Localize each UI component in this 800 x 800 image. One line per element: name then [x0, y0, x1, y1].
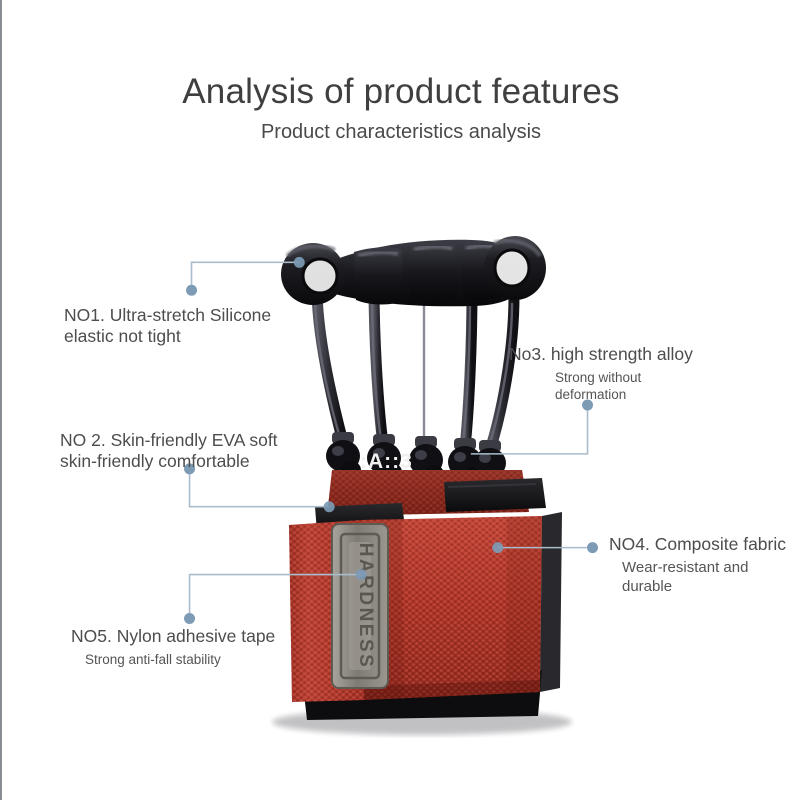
leader-line-no3 — [471, 405, 588, 454]
leader-dot-no1-target — [294, 257, 305, 268]
annotation-no2-title: NO 2. Skin-friendly EVA soft skin-friend… — [60, 430, 340, 472]
annotation-no1: NO1. Ultra-stretch Silicone elastic not … — [64, 305, 324, 347]
annotation-no1-title: NO1. Ultra-stretch Silicone elastic not … — [64, 305, 324, 347]
annotation-no5: NO5. Nylon adhesive tape Strong anti-fal… — [71, 626, 311, 668]
leader-line-no1 — [192, 262, 300, 290]
leader-line-no5 — [190, 575, 362, 619]
leader-dot-no5-label — [184, 613, 195, 624]
leader-dot-no4-label — [587, 542, 598, 553]
annotation-no4-sub: Wear-resistant and durable — [622, 558, 799, 596]
infographic-canvas: :A::3 HARDNESS — [2, 0, 800, 800]
annotation-no3-sub: Strong without deformation — [555, 369, 739, 403]
annotation-no2: NO 2. Skin-friendly EVA soft skin-friend… — [60, 430, 340, 472]
leader-dot-no5-target — [356, 569, 367, 580]
annotation-no4: NO4. Composite fabric Wear-resistant and… — [609, 534, 799, 596]
leader-dot-no4-target — [492, 542, 503, 553]
annotation-no3: No3. high strength alloy Strong without … — [509, 344, 739, 403]
annotation-no5-title: NO5. Nylon adhesive tape — [71, 626, 311, 647]
annotation-no5-sub: Strong anti-fall stability — [85, 651, 311, 668]
annotation-no3-title: No3. high strength alloy — [509, 344, 739, 365]
page-subtitle: Product characteristics analysis — [2, 121, 800, 144]
leader-dot-no1-label — [186, 285, 197, 296]
leader-line-no2 — [190, 469, 330, 507]
page-title: Analysis of product features — [2, 72, 800, 112]
leader-dot-no2-target — [324, 501, 335, 512]
annotation-no4-title: NO4. Composite fabric — [609, 534, 799, 555]
